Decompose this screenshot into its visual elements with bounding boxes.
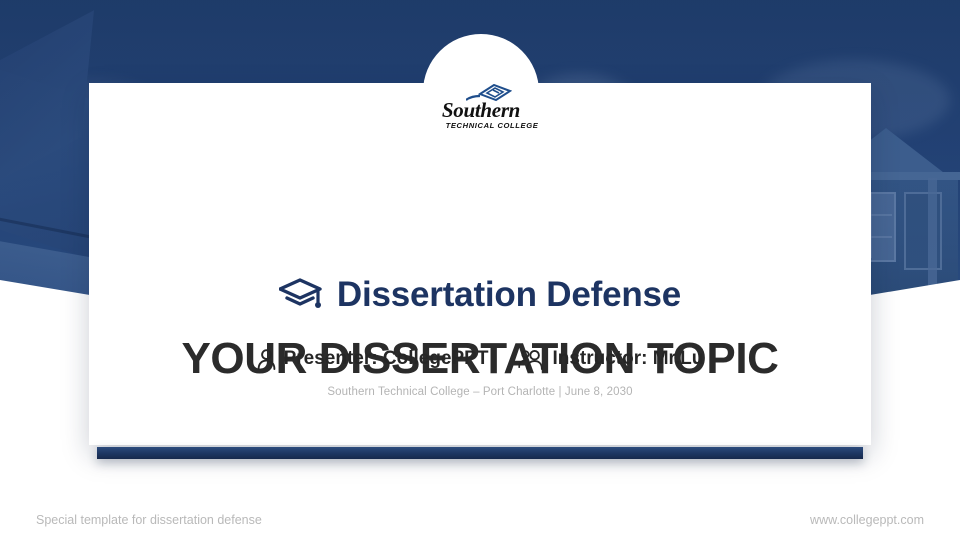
presenter-label: Presenter: CollegePPT	[284, 348, 489, 370]
footer-right-text: www.collegeppt.com	[810, 513, 924, 527]
logo-subwordmark: TECHNICAL COLLEGE	[446, 122, 539, 130]
school-logo: Southern TECHNICAL COLLEGE	[418, 84, 544, 136]
people-row: Presenter: CollegePPT Instructor: Mr.Lu	[89, 348, 871, 370]
subtitle-row: Dissertation Defense	[89, 275, 871, 315]
people-group-icon	[518, 349, 544, 370]
footer-left-text: Special template for dissertation defens…	[36, 513, 262, 527]
card-bottom-accent-bar	[97, 447, 863, 459]
person-icon	[257, 349, 276, 370]
presenter-item: Presenter: CollegePPT	[257, 348, 489, 370]
subtitle-text: Dissertation Defense	[337, 275, 681, 315]
presentation-slide: Dissertation Defense YOUR DISSERTATION T…	[0, 0, 960, 540]
venue-date-line: Southern Technical College – Port Charlo…	[89, 386, 871, 398]
instructor-label: Instructor: Mr.Lu	[552, 348, 703, 370]
instructor-item: Instructor: Mr.Lu	[518, 348, 703, 370]
graduation-cap-icon	[279, 278, 323, 312]
logo-wordmark: Southern	[442, 100, 520, 121]
